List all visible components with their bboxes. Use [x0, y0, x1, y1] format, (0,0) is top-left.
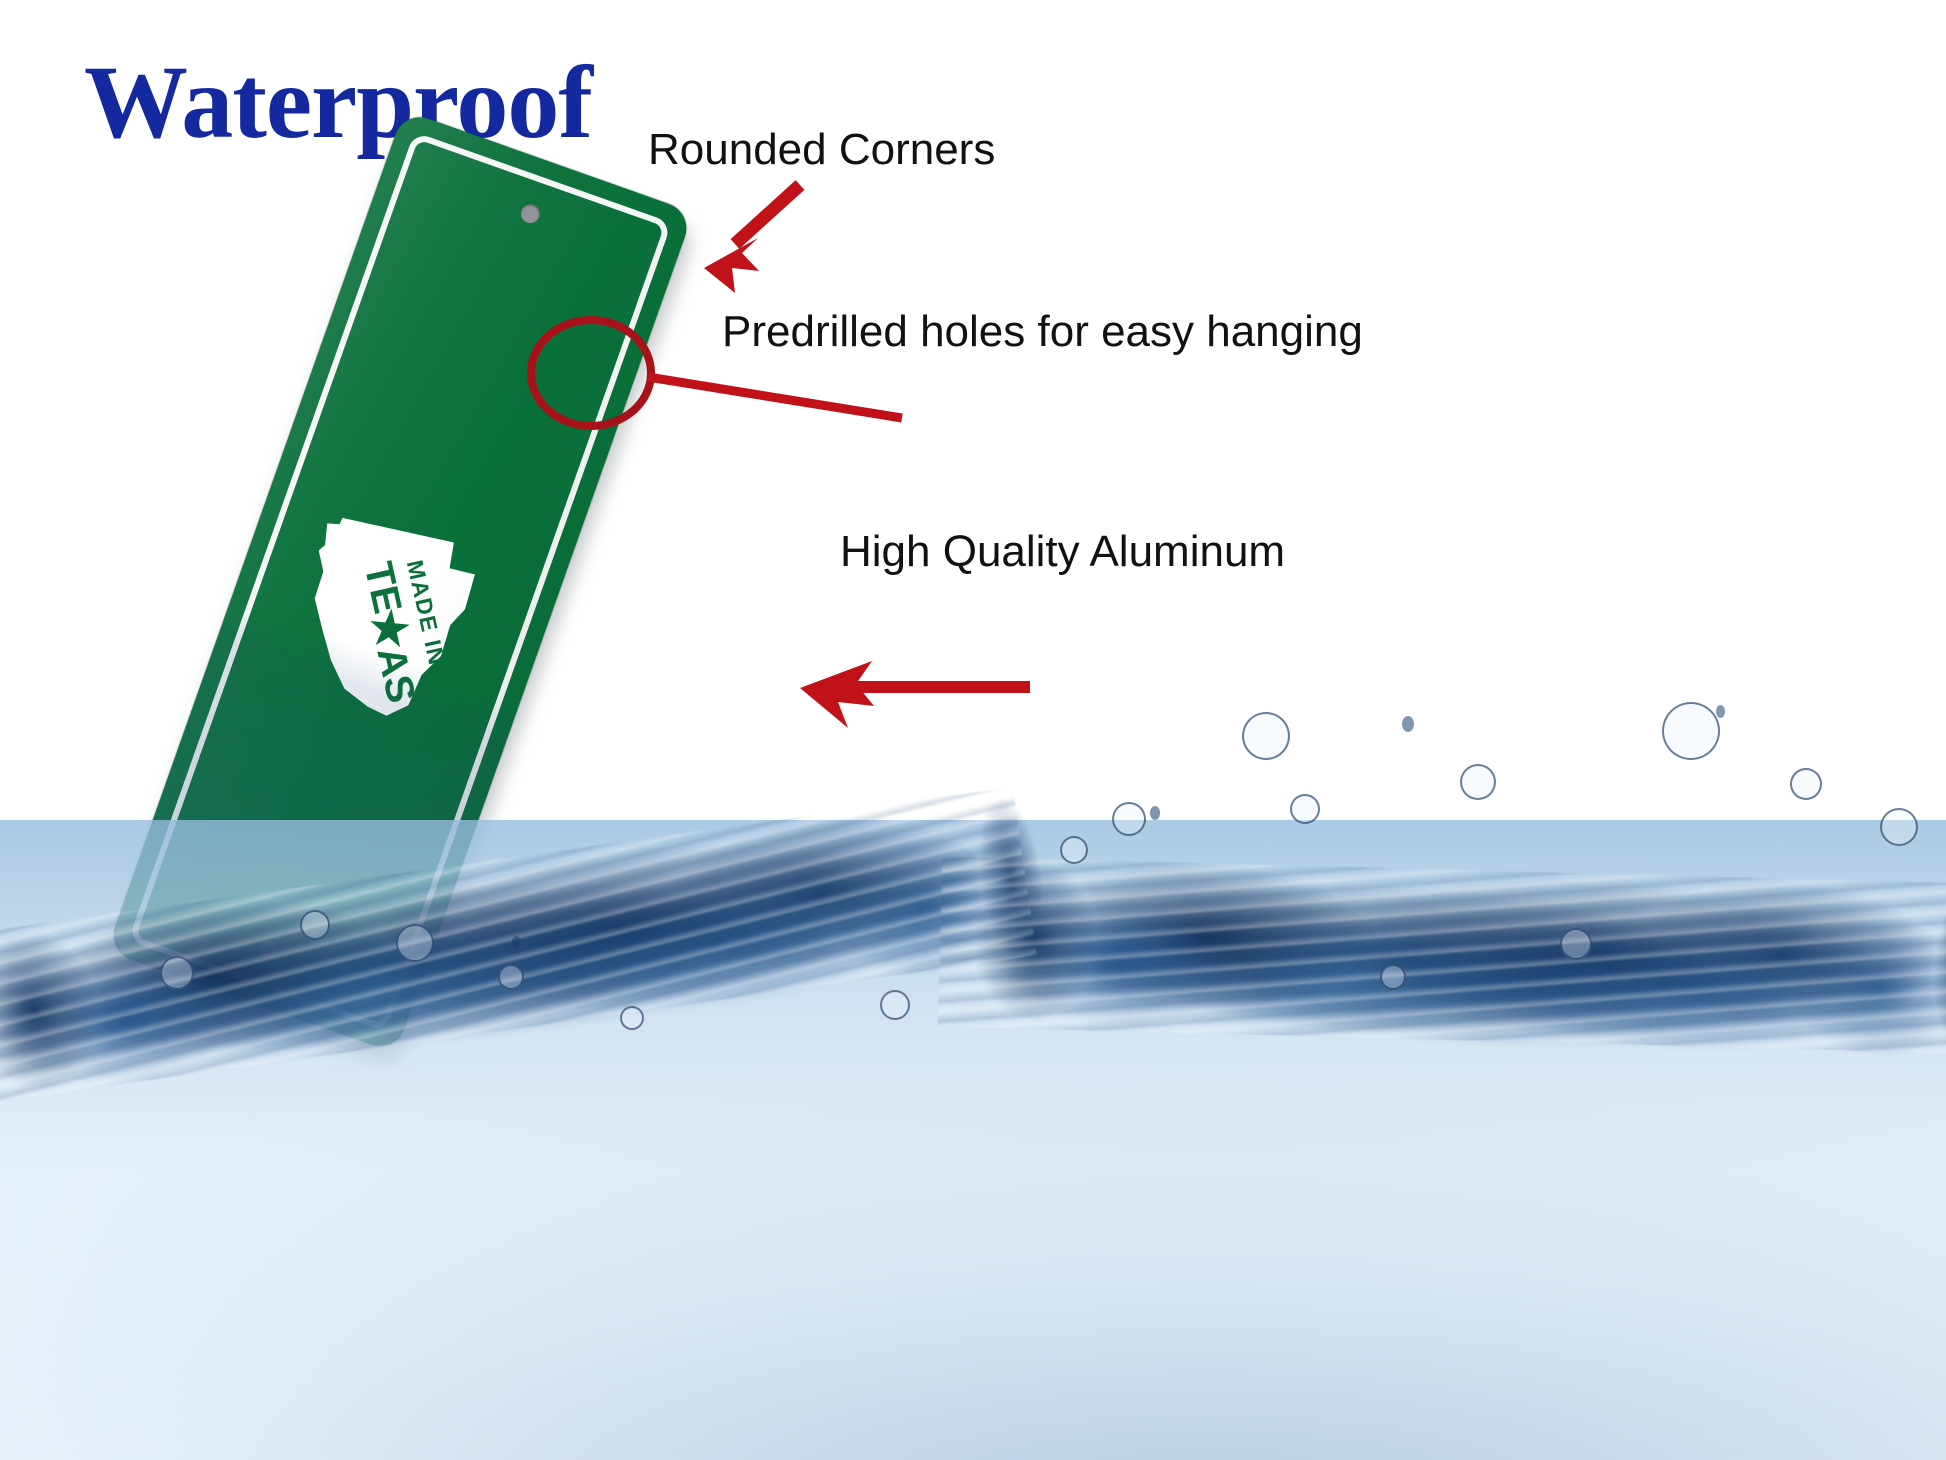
water-bubble	[1790, 768, 1822, 800]
water-droplet	[1716, 705, 1725, 718]
sign-face: MADE IN TE ★ AS	[106, 110, 693, 1053]
annotation-label-high-quality-aluminum: High Quality Aluminum	[840, 530, 1285, 574]
street-sign-blade: MADE IN TE ★ AS	[102, 110, 1026, 1183]
water-crest-right	[946, 818, 1946, 1088]
annotation-label-predrilled-holes: Predrilled holes for easy hanging	[722, 310, 1363, 354]
water-bubble	[1560, 928, 1592, 960]
water-streaks-right	[938, 856, 1946, 1053]
water-droplet	[1150, 806, 1160, 820]
water-bubble	[1460, 764, 1496, 800]
water-bubble	[1662, 702, 1720, 760]
water-droplet	[1402, 716, 1414, 732]
water-bubble	[1380, 964, 1406, 990]
annotation-label-rounded-corners: Rounded Corners	[648, 128, 995, 172]
water-bubble	[1290, 794, 1320, 824]
infographic-canvas: Waterproof MADE IN TE ★	[0, 0, 1946, 1460]
water-bubble	[1880, 808, 1918, 846]
water-bubble	[880, 990, 910, 1020]
water-bubble	[1242, 712, 1290, 760]
water-bubble	[1112, 802, 1146, 836]
water-bubble	[1060, 836, 1088, 864]
page-title: Waterproof	[84, 48, 592, 157]
